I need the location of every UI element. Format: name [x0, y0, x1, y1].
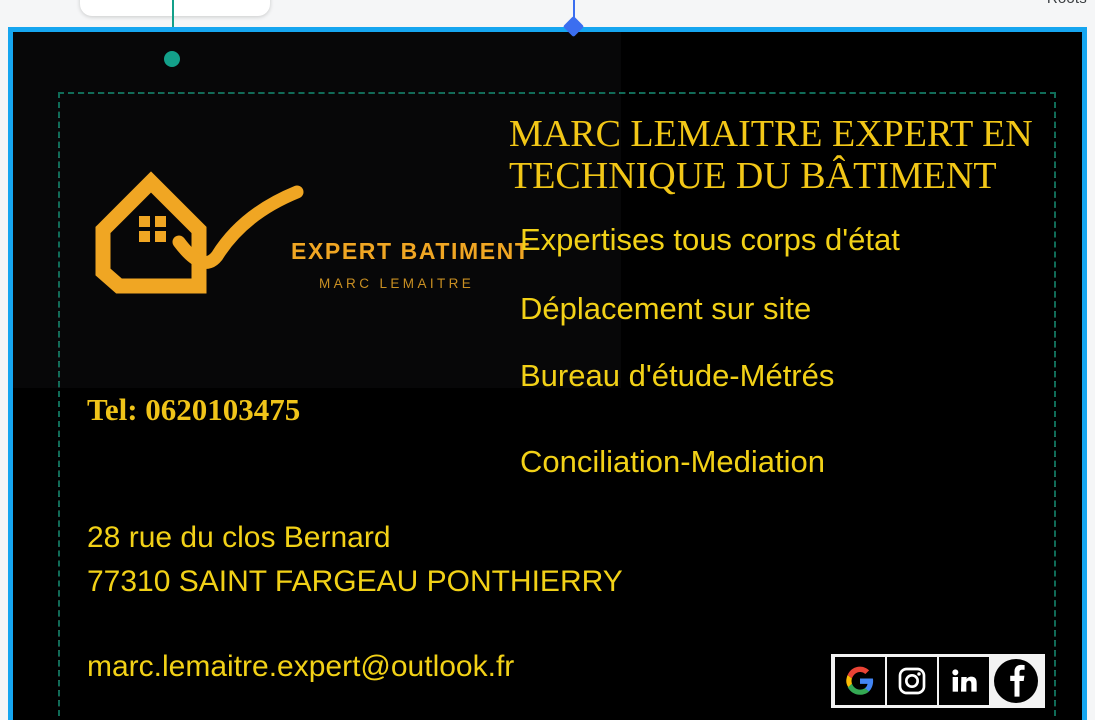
facebook-icon[interactable]: [991, 657, 1041, 705]
business-card-artwork: EXPERT BATIMENT MARC LEMAITRE MARC LEMAI…: [13, 32, 1082, 720]
logo-brand-text: EXPERT BATIMENT: [291, 238, 531, 265]
address-line-1: 28 rue du clos Bernard: [87, 516, 623, 560]
linkedin-icon[interactable]: [939, 657, 989, 705]
logo-person-text: MARC LEMAITRE: [319, 276, 474, 291]
service-item: Conciliation-Mediation: [520, 444, 825, 480]
social-icons-strip: [831, 654, 1045, 708]
house-checkmark-icon: [91, 168, 306, 298]
google-icon[interactable]: [835, 657, 885, 705]
screenshot-root: Roots EXPERT BATIMENT MARC LEMAITRE MAR: [0, 0, 1095, 720]
service-item: Expertises tous corps d'état: [520, 222, 900, 258]
instagram-icon[interactable]: [887, 657, 937, 705]
email-address: marc.lemaitre.expert@outlook.fr: [87, 650, 514, 684]
company-logo: EXPERT BATIMENT MARC LEMAITRE: [91, 168, 451, 308]
phone-number: Tel: 0620103475: [87, 392, 300, 428]
status-label: Roots: [1047, 0, 1087, 7]
floating-toolbar-pill[interactable]: [80, 0, 270, 16]
image-canvas-frame[interactable]: EXPERT BATIMENT MARC LEMAITRE MARC LEMAI…: [8, 27, 1087, 720]
rotation-handle[interactable]: [164, 51, 180, 67]
service-item: Déplacement sur site: [520, 291, 811, 327]
service-item: Bureau d'étude-Métrés: [520, 358, 834, 394]
card-headline: MARC LEMAITRE EXPERT EN TECHNIQUE DU BÂT…: [509, 114, 1069, 198]
postal-address: 28 rue du clos Bernard 77310 SAINT FARGE…: [87, 516, 623, 603]
address-line-2: 77310 SAINT FARGEAU PONTHIERRY: [87, 560, 623, 604]
